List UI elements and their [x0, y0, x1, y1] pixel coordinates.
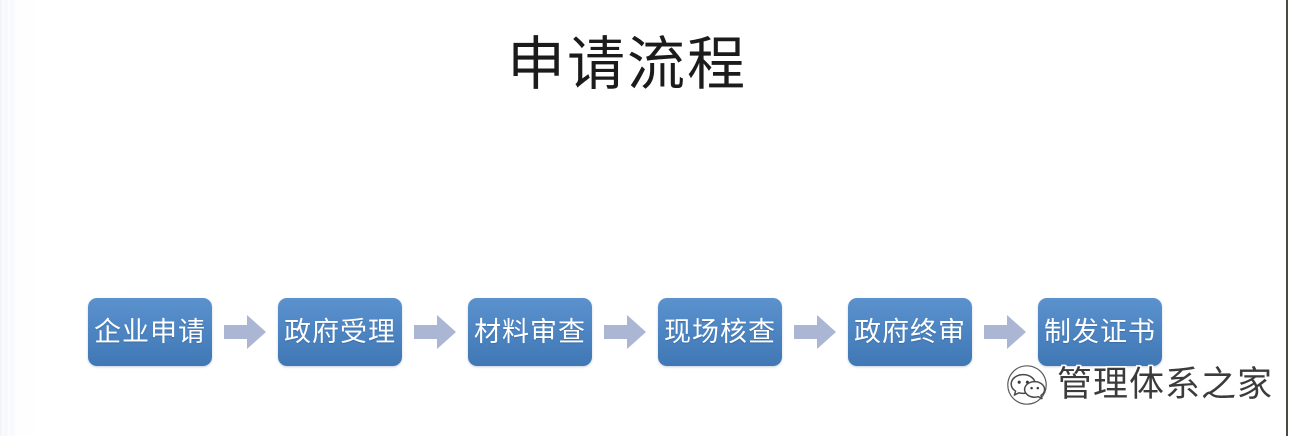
watermark-text: 管理体系之家: [1057, 365, 1273, 405]
wechat-bubble-icon: [1006, 364, 1048, 406]
flow-step-5[interactable]: 政府终审: [848, 298, 972, 366]
flow-step-label: 政府终审: [854, 317, 966, 347]
process-flow-diagram: 企业申请 政府受理 材料审查 现场核查: [88, 298, 1162, 366]
flow-step-3[interactable]: 材料审查: [468, 298, 592, 366]
flow-step-6[interactable]: 制发证书: [1038, 298, 1162, 366]
flow-step-2[interactable]: 政府受理: [278, 298, 402, 366]
flow-step-label: 企业申请: [94, 317, 206, 347]
page-title: 申请流程: [0, 30, 1254, 100]
watermark: 管理体系之家: [1006, 362, 1273, 408]
slide-canvas: 申请流程 企业申请 政府受理 材料审查 现场核查: [0, 0, 1294, 436]
right-arrow-icon: [592, 298, 658, 366]
flow-step-4[interactable]: 现场核查: [658, 298, 782, 366]
flow-step-label: 材料审查: [474, 317, 586, 347]
flow-step-label: 政府受理: [284, 317, 396, 347]
right-arrow-icon: [972, 298, 1038, 366]
flow-step-label: 制发证书: [1044, 317, 1156, 347]
flow-step-1[interactable]: 企业申请: [88, 298, 212, 366]
flow-step-label: 现场核查: [664, 317, 776, 347]
right-edge-rule: [1286, 0, 1288, 436]
right-arrow-icon: [212, 298, 278, 366]
right-arrow-icon: [402, 298, 468, 366]
right-arrow-icon: [782, 298, 848, 366]
